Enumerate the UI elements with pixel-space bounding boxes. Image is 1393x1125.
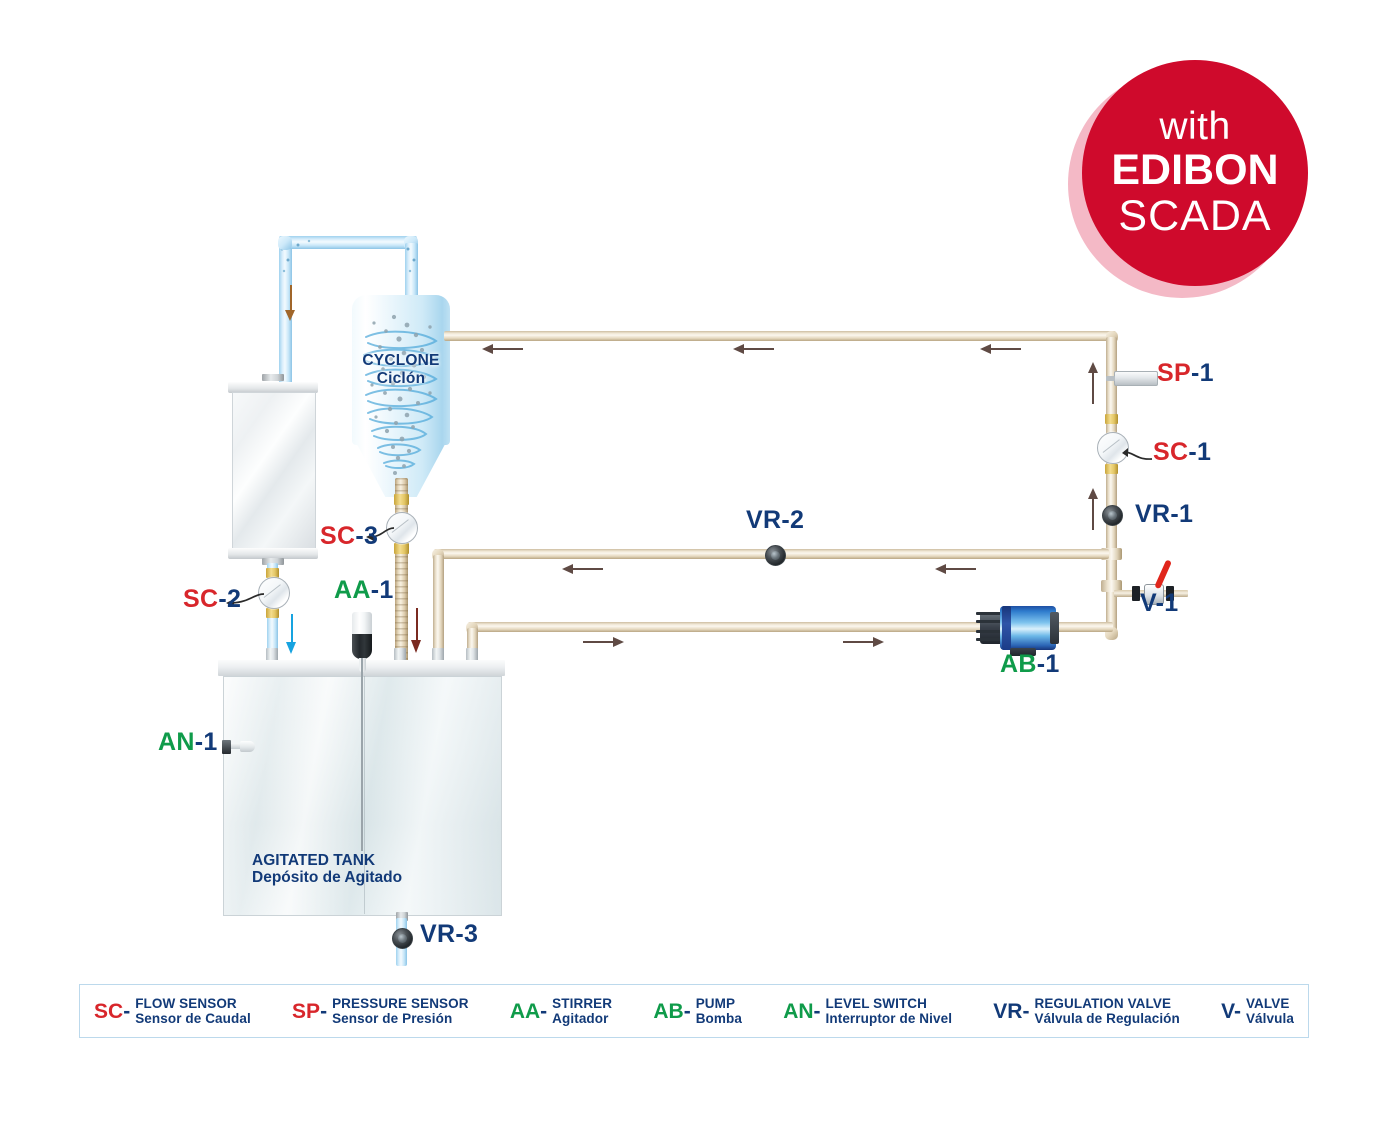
legend-item-sc: SC- FLOW SENSOR Sensor de Caudal — [94, 996, 251, 1026]
tag-sc-1-suffix: -1 — [1188, 438, 1211, 466]
tag-sc-2: SC-2 — [183, 587, 241, 612]
an1-mount — [222, 740, 231, 754]
badge-line-scada: SCADA — [1118, 193, 1271, 239]
flow-arrow-feed-3 — [980, 343, 1022, 355]
sc3-coupling-lower — [394, 543, 409, 554]
badge-line-edibon: EDIBON — [1111, 149, 1278, 193]
tag-v-1-prefix: V — [1140, 589, 1156, 617]
flow-arrow-riser-mid — [1087, 488, 1099, 530]
flow-arrow-underflow-down — [411, 608, 422, 656]
legend-code-sc-prefix: SC — [94, 1000, 123, 1023]
flow-arrow-riser-top — [1087, 362, 1099, 404]
legend-item-an: AN- LEVEL SWITCH Interruptor de Nivel — [783, 996, 952, 1026]
badge-line-with: with — [1159, 107, 1230, 146]
stirrer-motor-body — [352, 634, 372, 659]
legend-code-an-dash: - — [814, 1000, 821, 1023]
legend-code-ab-dash: - — [684, 1000, 691, 1023]
legend-sp-en: PRESSURE SENSOR — [332, 996, 469, 1011]
tag-an-1-prefix: AN — [158, 728, 195, 756]
legend-text-v: VALVE Válvula — [1246, 996, 1294, 1026]
legend-text-aa: STIRRER Agitador — [552, 996, 612, 1026]
legend-text-sp: PRESSURE SENSOR Sensor de Presión — [332, 996, 469, 1026]
an1-float — [240, 741, 255, 752]
tag-ab-1: AB-1 — [1000, 652, 1060, 677]
sc3-coupling-upper — [394, 494, 409, 505]
regulation-valve-vr2[interactable] — [765, 545, 786, 566]
legend-item-aa: AA- STIRRER Agitador — [510, 996, 612, 1026]
cyclone-label: CYCLONE Ciclón — [352, 353, 450, 388]
tag-v-1-suffix: -1 — [1156, 589, 1179, 617]
cyclone-label-es: Ciclón — [352, 370, 450, 389]
sc1-coupling-lower — [1105, 464, 1118, 474]
sp1-nipple — [1106, 376, 1115, 381]
flow-arrow-suction-1 — [582, 636, 624, 648]
pump-band-left — [1002, 606, 1011, 650]
level-switch-an1[interactable] — [218, 738, 258, 760]
tag-sc-1-prefix: SC — [1153, 438, 1188, 466]
tag-vr-3-prefix: VR — [420, 920, 455, 948]
tag-an-1: AN-1 — [158, 730, 218, 755]
tag-sp-1-suffix: -1 — [1191, 359, 1214, 387]
inlet-pipe-elbow-left — [278, 236, 292, 250]
tag-sp-1-prefix: SP — [1157, 359, 1191, 387]
tag-vr-2-prefix: VR — [746, 506, 781, 534]
legend-text-sc: FLOW SENSOR Sensor de Caudal — [135, 996, 251, 1026]
legend-code-aa: AA- — [510, 1001, 547, 1022]
legend-item-ab: AB- PUMP Bomba — [653, 996, 742, 1026]
separator-vessel — [232, 382, 314, 559]
tag-aa-1-suffix: -1 — [371, 576, 394, 604]
legend-code-vr-prefix: VR — [993, 1000, 1022, 1023]
tank-label-en: AGITATED TANK — [252, 852, 402, 869]
legend-code-ab: AB- — [653, 1001, 690, 1022]
tank-label: AGITATED TANK Depósito de Agitado — [252, 852, 402, 888]
legend-v-es: Válvula — [1246, 1011, 1294, 1026]
separator-inlet-coupling — [262, 374, 284, 381]
legend-code-an-prefix: AN — [783, 1000, 813, 1023]
tag-v-1: V-1 — [1140, 591, 1178, 616]
tag-vr-2-suffix: -2 — [781, 506, 804, 534]
sc1-leader-line — [1122, 448, 1154, 466]
legend-ab-en: PUMP — [696, 996, 742, 1011]
tag-sc-2-suffix: -2 — [218, 585, 241, 613]
edibon-scada-badge: with EDIBON SCADA — [1068, 60, 1308, 300]
legend-item-sp: SP- PRESSURE SENSOR Sensor de Presión — [292, 996, 469, 1026]
legend-an-es: Interruptor de Nivel — [826, 1011, 953, 1026]
tag-ab-1-prefix: AB — [1000, 650, 1037, 678]
inlet-pipe-top-horizontal — [279, 236, 417, 249]
legend-vr-en: REGULATION VALVE — [1034, 996, 1179, 1011]
tag-aa-1-prefix: AA — [334, 576, 371, 604]
process-diagram-canvas: with EDIBON SCADA — [0, 0, 1393, 1125]
legend-code-v-dash: - — [1234, 1000, 1241, 1023]
cyclone-separator: CYCLONE Ciclón — [352, 295, 450, 495]
tag-aa-1: AA-1 — [334, 578, 394, 603]
pump-end-cap — [1050, 612, 1059, 644]
legend-ab-es: Bomba — [696, 1011, 742, 1026]
flow-arrow-feed-2 — [733, 343, 775, 355]
stirrer-motor-top — [352, 612, 372, 636]
legend-code-vr-dash: - — [1022, 1000, 1029, 1023]
legend-text-an: LEVEL SWITCH Interruptor de Nivel — [826, 996, 953, 1026]
tag-vr-1-prefix: VR — [1135, 500, 1170, 528]
tag-sc-3-prefix: SC — [320, 522, 355, 550]
legend-aa-en: STIRRER — [552, 996, 612, 1011]
tag-sp-1: SP-1 — [1157, 361, 1214, 386]
legend-code-sp-prefix: SP — [292, 1000, 320, 1023]
tag-ab-1-suffix: -1 — [1037, 650, 1060, 678]
flow-arrow-suction-2 — [842, 636, 884, 648]
flow-arrow-bypass-2 — [935, 563, 977, 575]
legend-code-sp: SP- — [292, 1001, 327, 1022]
sc1-coupling-upper — [1105, 414, 1118, 424]
legend-aa-es: Agitador — [552, 1011, 612, 1026]
regulation-valve-vr3[interactable] — [392, 928, 413, 949]
legend-text-ab: PUMP Bomba — [696, 996, 742, 1026]
pump-ab1[interactable] — [978, 604, 1070, 656]
cyclone-underflow-pipe — [395, 478, 408, 663]
tank-label-es: Depósito de Agitado — [252, 869, 402, 888]
legend-sp-es: Sensor de Presión — [332, 1011, 469, 1026]
legend-sc-en: FLOW SENSOR — [135, 996, 251, 1011]
tag-vr-1: VR-1 — [1135, 502, 1193, 527]
tag-sc-3: SC-3 — [320, 524, 378, 549]
legend-text-vr: REGULATION VALVE Válvula de Regulación — [1034, 996, 1179, 1026]
flow-arrow-bypass-1 — [562, 563, 604, 575]
legend-code-vr: VR- — [993, 1001, 1029, 1022]
flow-arrow-sc2-down — [286, 614, 297, 656]
legend-code-ab-prefix: AB — [653, 1000, 683, 1023]
stirrer-shaft — [361, 658, 363, 851]
tag-vr-1-suffix: -1 — [1170, 500, 1193, 528]
legend-bar: SC- FLOW SENSOR Sensor de Caudal SP- PRE… — [79, 984, 1309, 1038]
sc2-coupling-lower — [266, 608, 279, 618]
tag-vr-3-suffix: -3 — [455, 920, 478, 948]
legend-item-v: V- VALVE Válvula — [1221, 996, 1294, 1026]
legend-code-v-prefix: V — [1221, 1000, 1234, 1023]
legend-vr-es: Válvula de Regulación — [1034, 1011, 1179, 1026]
legend-code-aa-dash: - — [540, 1000, 547, 1023]
legend-code-sc-dash: - — [123, 1000, 130, 1023]
cyclone-label-en: CYCLONE — [352, 353, 450, 370]
flow-arrow-feed-1 — [482, 343, 524, 355]
legend-code-aa-prefix: AA — [510, 1000, 540, 1023]
legend-an-en: LEVEL SWITCH — [826, 996, 953, 1011]
legend-sc-es: Sensor de Caudal — [135, 1011, 251, 1026]
legend-code-sp-dash: - — [320, 1000, 327, 1023]
legend-v-en: VALVE — [1246, 996, 1294, 1011]
tag-sc-1: SC-1 — [1153, 440, 1211, 465]
flow-arrow-inlet-down — [285, 285, 296, 321]
badge-disc: with EDIBON SCADA — [1082, 60, 1308, 286]
v1-flange-left — [1132, 586, 1140, 601]
cyclone-vortex-graphic — [352, 295, 450, 495]
tag-vr-3: VR-3 — [420, 922, 478, 947]
separator-panel — [232, 392, 316, 551]
tag-sc-3-suffix: -3 — [355, 522, 378, 550]
regulation-valve-vr1[interactable] — [1102, 505, 1123, 526]
pressure-sensor-sp1 — [1114, 371, 1158, 386]
legend-item-vr: VR- REGULATION VALVE Válvula de Regulaci… — [993, 996, 1180, 1026]
bypass-pipe-down-to-tank — [433, 555, 444, 663]
tag-vr-2: VR-2 — [746, 508, 804, 533]
tag-sc-2-prefix: SC — [183, 585, 218, 613]
legend-code-v: V- — [1221, 1001, 1241, 1022]
legend-code-sc: SC- — [94, 1001, 130, 1022]
tag-an-1-suffix: -1 — [195, 728, 218, 756]
legend-code-an: AN- — [783, 1001, 820, 1022]
stirrer-aa1[interactable] — [352, 612, 372, 660]
cyclone-feed-pipe-horizontal — [444, 331, 1116, 341]
